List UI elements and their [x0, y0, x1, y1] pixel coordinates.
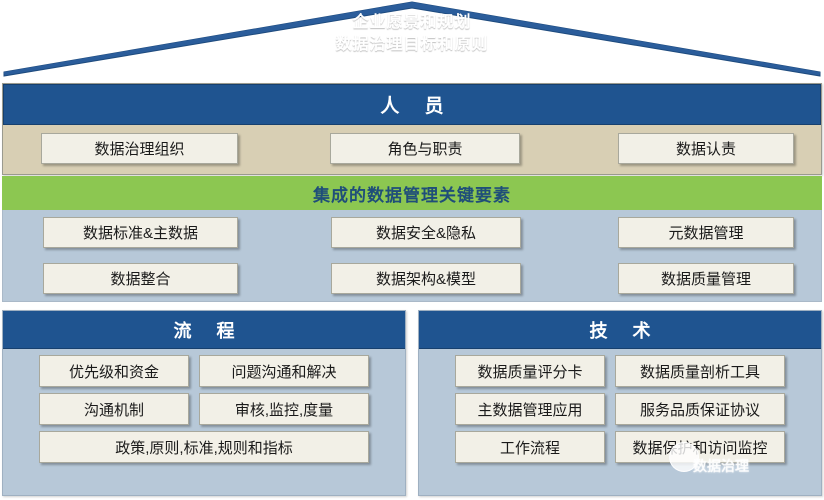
- core-elements-section: 数据标准&主数据 数据安全&隐私 元数据管理 数据整合 数据架构&模型 数据质量…: [2, 210, 822, 302]
- process-panel-header: 流 程: [3, 311, 405, 349]
- process-item-issue-communication-resolution[interactable]: 问题沟通和解决: [199, 355, 369, 387]
- technology-panel-body: 数据质量评分卡 数据质量剖析工具 主数据管理应用 服务品质保证协议 工作流程 数…: [419, 349, 821, 495]
- people-items-row: 数据治理组织 角色与职责 数据认责: [3, 125, 821, 174]
- technology-row-2: 主数据管理应用 服务品质保证协议: [419, 393, 821, 425]
- core-row-1: 数据标准&主数据 数据安全&隐私 元数据管理: [3, 210, 821, 256]
- process-panel: 流 程 优先级和资金 问题沟通和解决 沟通机制 审核,监控,度量 政策,原则,标…: [2, 310, 406, 496]
- diagram-canvas: 企业愿景和规划 数据治理目标和原则 人 员 数据治理组织 角色与职责 数据认责 …: [0, 0, 824, 500]
- core-item-data-architecture-model[interactable]: 数据架构&模型: [331, 263, 521, 294]
- process-row-3: 政策,原则,标准,规则和指标: [3, 431, 405, 463]
- technology-row-3: 工作流程 数据保护和访问监控: [419, 431, 821, 463]
- process-item-policy-principle-standard-rule-metric[interactable]: 政策,原则,标准,规则和指标: [39, 431, 369, 463]
- technology-item-master-data-management-app[interactable]: 主数据管理应用: [455, 393, 605, 425]
- people-item-data-stewardship[interactable]: 数据认责: [618, 133, 794, 164]
- technology-item-data-quality-profiling-tool[interactable]: 数据质量剖析工具: [615, 355, 785, 387]
- core-row-2: 数据整合 数据架构&模型 数据质量管理: [3, 256, 821, 302]
- core-item-data-quality-management[interactable]: 数据质量管理: [618, 263, 794, 294]
- technology-panel-header: 技 术: [419, 311, 821, 349]
- process-panel-body: 优先级和资金 问题沟通和解决 沟通机制 审核,监控,度量 政策,原则,标准,规则…: [3, 349, 405, 495]
- people-header: 人 员: [3, 84, 821, 125]
- process-item-communication-mechanism[interactable]: 沟通机制: [39, 393, 189, 425]
- process-row-2: 沟通机制 审核,监控,度量: [3, 393, 405, 425]
- core-item-metadata-management[interactable]: 元数据管理: [618, 217, 794, 248]
- roof-banner: 企业愿景和规划 数据治理目标和原则: [0, 0, 824, 78]
- technology-item-data-protection-access-monitoring[interactable]: 数据保护和访问监控: [615, 431, 785, 463]
- core-item-data-integration[interactable]: 数据整合: [43, 263, 238, 294]
- core-item-data-standards-master-data[interactable]: 数据标准&主数据: [43, 217, 238, 248]
- technology-row-1: 数据质量评分卡 数据质量剖析工具: [419, 355, 821, 387]
- people-item-roles-responsibilities[interactable]: 角色与职责: [330, 133, 520, 164]
- integrated-key-elements-header: 集成的数据管理关键要素: [2, 176, 822, 210]
- process-item-audit-monitor-measure[interactable]: 审核,监控,度量: [199, 393, 369, 425]
- roof-shape-icon: [0, 0, 824, 78]
- technology-item-workflow[interactable]: 工作流程: [455, 431, 605, 463]
- technology-item-data-quality-scorecard[interactable]: 数据质量评分卡: [455, 355, 605, 387]
- people-section: 人 员 数据治理组织 角色与职责 数据认责: [2, 83, 822, 175]
- process-row-1: 优先级和资金 问题沟通和解决: [3, 355, 405, 387]
- people-item-data-governance-org[interactable]: 数据治理组织: [41, 133, 238, 164]
- technology-panel: 技 术 数据质量评分卡 数据质量剖析工具 主数据管理应用 服务品质保证协议 工作…: [418, 310, 822, 496]
- process-item-priority-funding[interactable]: 优先级和资金: [39, 355, 189, 387]
- technology-item-service-level-agreement[interactable]: 服务品质保证协议: [615, 393, 785, 425]
- core-item-data-security-privacy[interactable]: 数据安全&隐私: [331, 217, 521, 248]
